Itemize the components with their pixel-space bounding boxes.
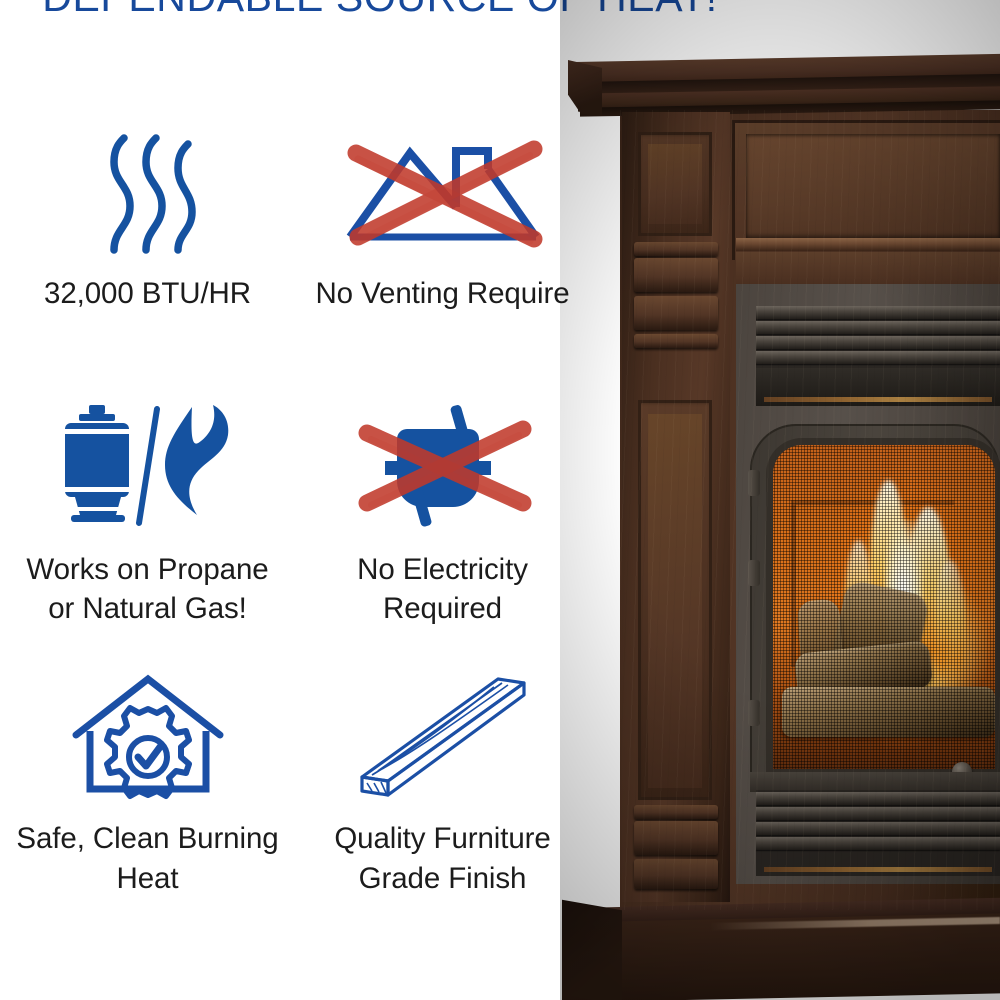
product-image-gas-fireplace [560,0,1000,1000]
door-hinge [748,700,760,726]
feature-furniture-grade: Quality Furniture Grade Finish [295,663,590,935]
dentil-block [634,242,718,256]
frieze-inner-panel [746,134,1000,239]
door-bottom-rail [750,772,1000,792]
feature-label: Safe, Clean Burning Heat [16,819,278,897]
brass-trim-strip [764,867,992,872]
dentil-block [634,258,718,292]
house-chimney-icon [338,120,548,268]
feature-label: 32,000 BTU/HR [44,274,251,313]
upper-louver-vent [756,306,1000,406]
dentil-block [634,805,718,819]
house-gear-check-icon [68,663,228,813]
door-hinge [748,560,760,586]
feature-btu-rating: 32,000 BTU/HR [0,120,295,392]
feature-label: Quality Furniture Grade Finish [334,819,550,897]
feature-no-venting: No Venting Require [295,120,590,392]
pilaster-panel-upper-inset [648,144,702,224]
feature-label: Works on Propane or Natural Gas! [26,550,268,628]
heat-waves-icon [96,120,200,268]
door-hinge [748,470,760,496]
feature-grid: 32,000 BTU/HR [0,120,590,935]
frieze-lower-band [736,252,1000,284]
firebox-glass-window [768,440,1000,774]
dentil-block [634,859,718,889]
wood-plank-icon [348,663,538,813]
brass-trim-strip [764,397,992,402]
frieze-highlight-rail [736,238,1000,251]
propane-tank-flame-icon [53,392,243,544]
dentil-block [634,334,718,348]
hearth-side-edge [562,900,622,1000]
feature-label: No Electricity Required [357,550,528,628]
lower-louver-vent [756,790,1000,876]
feature-no-electricity: No Electricity Required [295,392,590,664]
feature-label: No Venting Require [315,274,569,313]
feature-safe-clean: Safe, Clean Burning Heat [0,663,295,935]
mesh-safety-screen [768,440,1000,774]
crown-molding-return [568,60,602,116]
infographic-canvas: DEPENDABLE SOURCE OF HEAT! 32,000 BTU/HR [0,0,1000,1000]
pilaster-panel-lower-inset [648,414,702,788]
dentil-block [634,821,718,855]
dentil-block [634,296,718,330]
electric-plug-icon [343,392,543,544]
feature-fuel-type: Works on Propane or Natural Gas! [0,392,295,664]
